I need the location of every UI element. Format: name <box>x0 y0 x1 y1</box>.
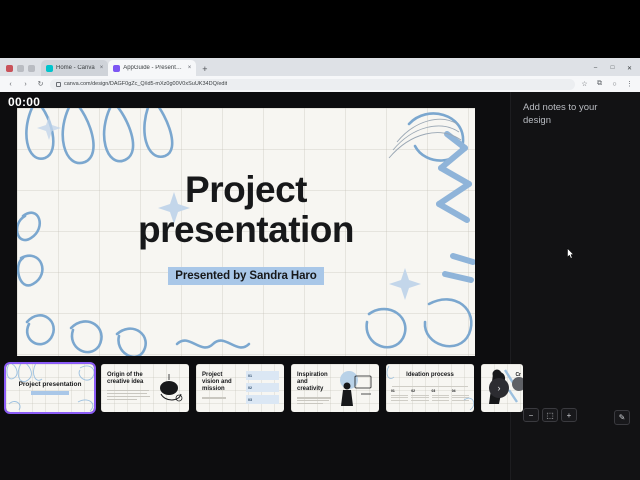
slide-canvas[interactable]: Project presentation Presented by Sandra… <box>17 108 475 356</box>
minimize-button[interactable]: – <box>587 60 604 76</box>
browser-tab-home-canva[interactable]: Home - Canva × <box>41 60 108 76</box>
thumb-doodles <box>386 364 474 412</box>
thumbnail-slide-2[interactable]: Origin of the creative idea <box>101 364 189 412</box>
deck-icon <box>113 65 120 72</box>
browser-tab-appguide-presentation[interactable]: AppGuide - Presentation × <box>108 60 196 76</box>
extensions-icon[interactable]: ⧉ <box>594 79 605 90</box>
fit-to-screen-button[interactable]: ⬚ <box>542 408 558 422</box>
pen-icon[interactable]: ✎ <box>614 410 630 425</box>
window-controls: – □ ✕ <box>587 60 640 76</box>
slide-title-line-1: Project <box>17 170 475 210</box>
thumb-content: Project vision and mission <box>202 372 240 399</box>
thumb-row: 01 <box>246 371 279 380</box>
bookmark-star-icon[interactable]: ☆ <box>579 79 590 90</box>
window-dot-1 <box>17 65 24 72</box>
text-line <box>202 397 226 398</box>
thumbnail-slide-1[interactable]: Project presentation <box>6 364 94 412</box>
thumb-row-list: 01 02 03 <box>246 371 279 404</box>
thumb-title: Project vision and mission <box>202 372 240 393</box>
slide-subtitle-text: Presented by Sandra Haro <box>168 267 323 285</box>
screen: Home - Canva × AppGuide - Presentation ×… <box>0 0 640 480</box>
address-bar[interactable]: canva.com/design/DAGF0gZc_Q/id5-mXz0g00V… <box>50 79 575 90</box>
notes-panel[interactable]: Add notes to your design − ⬚ + ✎ <box>510 92 640 480</box>
canva-icon <box>46 65 53 72</box>
window-system-dots <box>0 65 41 76</box>
thumb-content: Project presentation <box>6 364 94 412</box>
new-tab-button[interactable]: + <box>196 64 213 76</box>
thumb-row: 02 <box>246 383 279 392</box>
row-number: 01 <box>248 374 252 378</box>
profile-icon[interactable]: ○ <box>609 79 620 90</box>
thumb-text-lines <box>202 397 240 398</box>
tab-title: Home - Canva <box>56 65 95 71</box>
next-slide-button[interactable]: › <box>489 378 509 398</box>
mouse-cursor <box>567 248 574 259</box>
row-number: 03 <box>248 398 252 402</box>
thumb-illustration <box>101 364 189 412</box>
thumb-illustration <box>291 364 379 412</box>
slide-subtitle: Presented by Sandra Haro <box>17 266 475 285</box>
window-dot-red <box>6 65 13 72</box>
browser-toolbar: ‹ › ↻ canva.com/design/DAGF0gZc_Q/id5-mX… <box>0 76 640 92</box>
maximize-button[interactable]: □ <box>604 60 621 76</box>
zoom-in-button[interactable]: + <box>561 408 577 422</box>
zoom-out-button[interactable]: − <box>523 408 539 422</box>
thumb-title: Cr <box>515 372 521 378</box>
close-icon[interactable]: × <box>100 65 104 71</box>
thumbnail-slide-4[interactable]: Inspiration and creativity <box>291 364 379 412</box>
slide-title-line-2: presentation <box>17 210 475 250</box>
reload-icon[interactable]: ↻ <box>35 79 46 90</box>
browser-tab-strip: Home - Canva × AppGuide - Presentation ×… <box>0 58 640 76</box>
notes-placeholder[interactable]: Add notes to your design <box>511 92 640 128</box>
thumb-subtitle-pill <box>31 391 69 395</box>
lock-icon <box>56 82 61 87</box>
thumb-title: Project presentation <box>19 381 82 388</box>
browser-menu-icon[interactable]: ⋮ <box>624 79 635 90</box>
thumbnail-slide-5[interactable]: Ideation process 01 02 03 04 <box>386 364 474 412</box>
slide-thumbnail-strip[interactable]: Project presentation Origin of the creat… <box>6 364 504 412</box>
row-number: 02 <box>248 386 252 390</box>
window-dot-2 <box>28 65 35 72</box>
tab-title: AppGuide - Presentation <box>123 65 182 71</box>
close-icon[interactable]: × <box>188 65 192 71</box>
thumbnail-slide-3[interactable]: Project vision and mission 01 02 03 <box>196 364 284 412</box>
url-text: canva.com/design/DAGF0gZc_Q/id5-mXz0g00V… <box>64 81 227 87</box>
thumb-row: 03 <box>246 395 279 404</box>
slide-title: Project presentation <box>17 170 475 250</box>
close-window-button[interactable]: ✕ <box>621 60 638 76</box>
forward-icon[interactable]: › <box>20 79 31 90</box>
presentation-timer[interactable]: 00:00 <box>8 95 40 109</box>
back-icon[interactable]: ‹ <box>5 79 16 90</box>
